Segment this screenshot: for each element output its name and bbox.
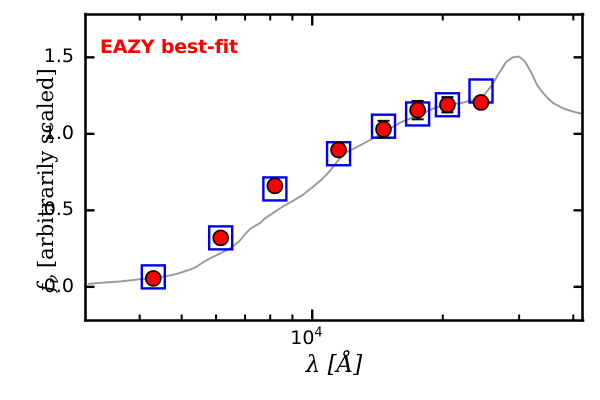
observed-photometry-point — [376, 122, 391, 137]
spectrum-group — [89, 57, 583, 284]
x-tick-label-exponent: 4 — [314, 325, 322, 340]
observed-photometry-point — [213, 230, 228, 245]
observed-photometry-point — [267, 178, 282, 193]
x-axis-label-unit: [Å] — [328, 352, 363, 378]
observed-photometry-point — [331, 142, 346, 157]
model-spectrum-line — [89, 57, 583, 284]
y-axis-label-f: f — [34, 284, 58, 292]
eazy-sed-figure: 0.00.51.01.5 104 fν [arbitrarily scaled]… — [0, 0, 600, 400]
observed-photometry-point — [410, 103, 425, 118]
y-axis-label-rest: [arbitrarily scaled] — [34, 68, 58, 274]
x-axis-label-lambda: λ — [306, 352, 321, 378]
observed-photometry-point — [146, 271, 161, 286]
observed-photometry-point — [473, 95, 488, 110]
y-axis-label-nu: ν — [44, 275, 62, 284]
observed-photometry-markers — [146, 95, 489, 286]
x-tick-label-base: 10 — [290, 327, 314, 349]
y-axis-ticks — [86, 57, 583, 287]
eazy-best-fit-annotation: EAZY best-fit — [100, 36, 238, 58]
y-axis-label: fν [arbitrarily scaled] — [34, 30, 58, 330]
x-tick-label: 104 — [290, 329, 322, 348]
observed-photometry-point — [440, 97, 455, 112]
x-axis-label: λ [Å] — [85, 352, 583, 378]
